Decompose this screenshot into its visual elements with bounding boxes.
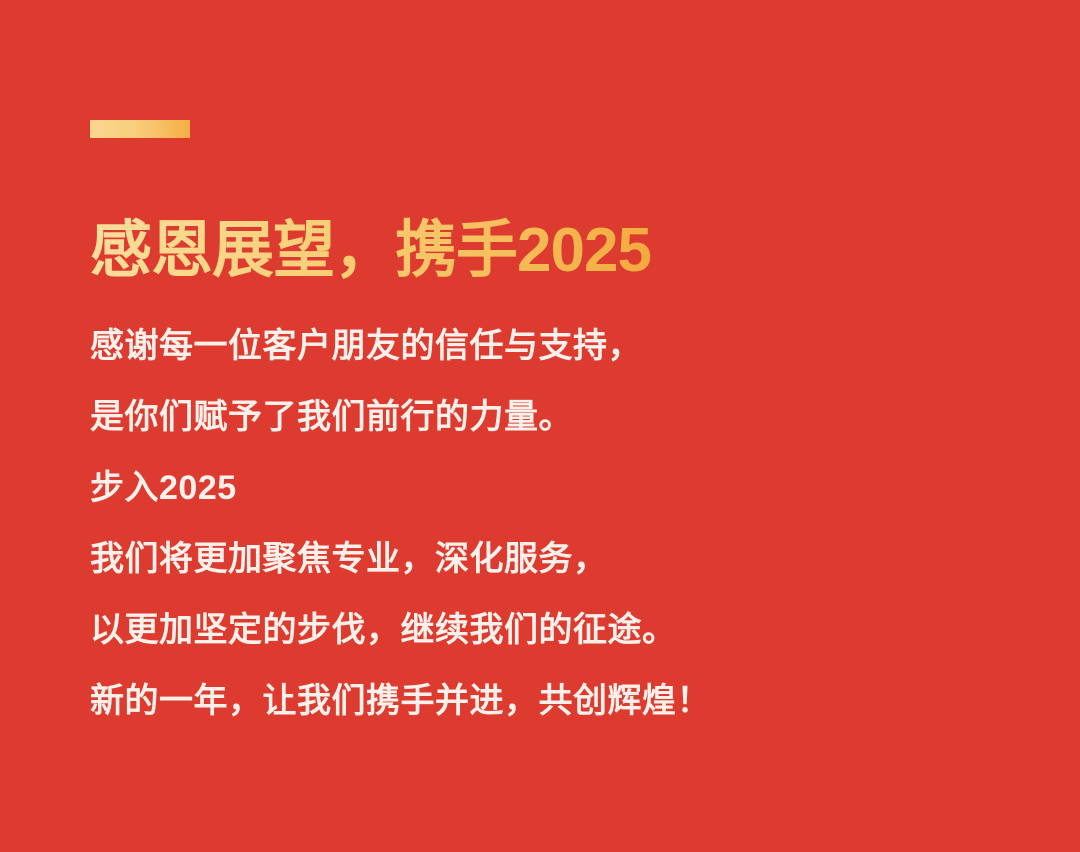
body-line: 新的一年，让我们携手并进，共创辉煌！: [90, 680, 950, 751]
promotional-poster: 感恩展望，携手2025 感谢每一位客户朋友的信任与支持， 是你们赋予了我们前行的…: [0, 0, 1080, 852]
body-line: 感谢每一位客户朋友的信任与支持，: [90, 325, 950, 396]
page-title: 感恩展望，携手2025: [90, 214, 651, 288]
gold-accent-bar: [90, 120, 190, 138]
body-copy: 感谢每一位客户朋友的信任与支持， 是你们赋予了我们前行的力量。 步入2025 我…: [90, 325, 950, 751]
body-line: 以更加坚定的步伐，继续我们的征途。: [90, 609, 950, 680]
body-line: 步入2025: [90, 467, 950, 538]
body-line: 是你们赋予了我们前行的力量。: [90, 396, 950, 467]
body-line: 我们将更加聚焦专业，深化服务，: [90, 538, 950, 609]
